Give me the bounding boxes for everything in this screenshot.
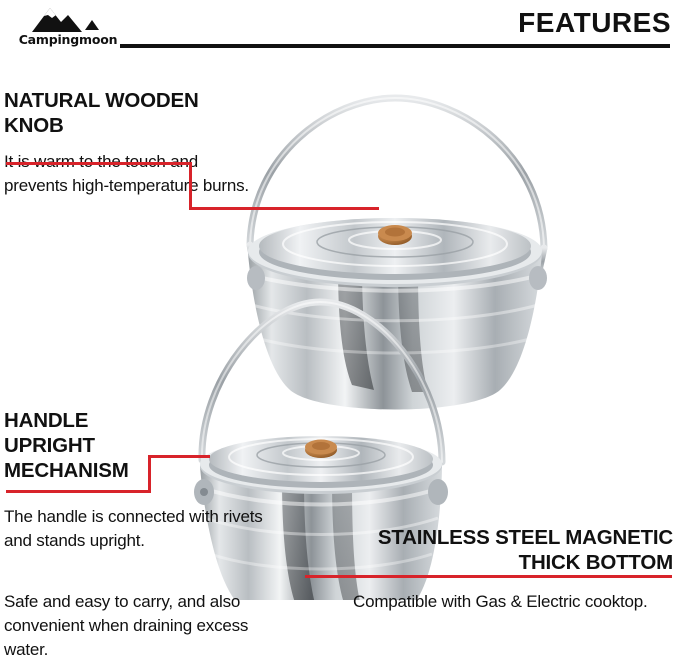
page-title: FEATURES <box>518 6 671 40</box>
leader-line-handle-underline <box>6 490 151 493</box>
leader-line-wooden-knob-horizontal <box>6 162 192 165</box>
upper-pot <box>247 98 547 410</box>
callout-body-thick-bottom: Compatible with Gas & Electric cooktop. <box>353 590 673 614</box>
mountain-logo-icon <box>30 6 100 34</box>
callout-body-handle-upright-1: The handle is connected with rivets and … <box>4 505 264 553</box>
brand-logo: Campingmoon <box>8 4 128 52</box>
brand-name: Campingmoon <box>8 32 128 47</box>
leader-line-wooden-knob-pointer <box>189 207 379 210</box>
callout-title-wooden-knob: NATURAL WOODEN KNOB <box>4 88 244 138</box>
header-divider-rule <box>120 44 670 48</box>
leader-line-handle-vertical <box>148 455 151 493</box>
leader-line-handle-pointer <box>148 455 210 458</box>
feature-infographic-page: Campingmoon FEATURES <box>0 0 679 665</box>
callout-title-thick-bottom: STAINLESS STEEL MAGNETIC THICK BOTTOM <box>343 525 673 575</box>
callout-body-handle-upright-2: Safe and easy to carry, and also conveni… <box>4 590 279 662</box>
page-header: Campingmoon FEATURES <box>0 0 679 58</box>
leader-line-thick-bottom-underline <box>372 575 672 578</box>
callout-body-wooden-knob: It is warm to the touch and prevents hig… <box>4 150 259 198</box>
leader-line-wooden-knob-vertical <box>189 162 192 210</box>
leader-line-thick-bottom-pointer <box>305 575 375 578</box>
